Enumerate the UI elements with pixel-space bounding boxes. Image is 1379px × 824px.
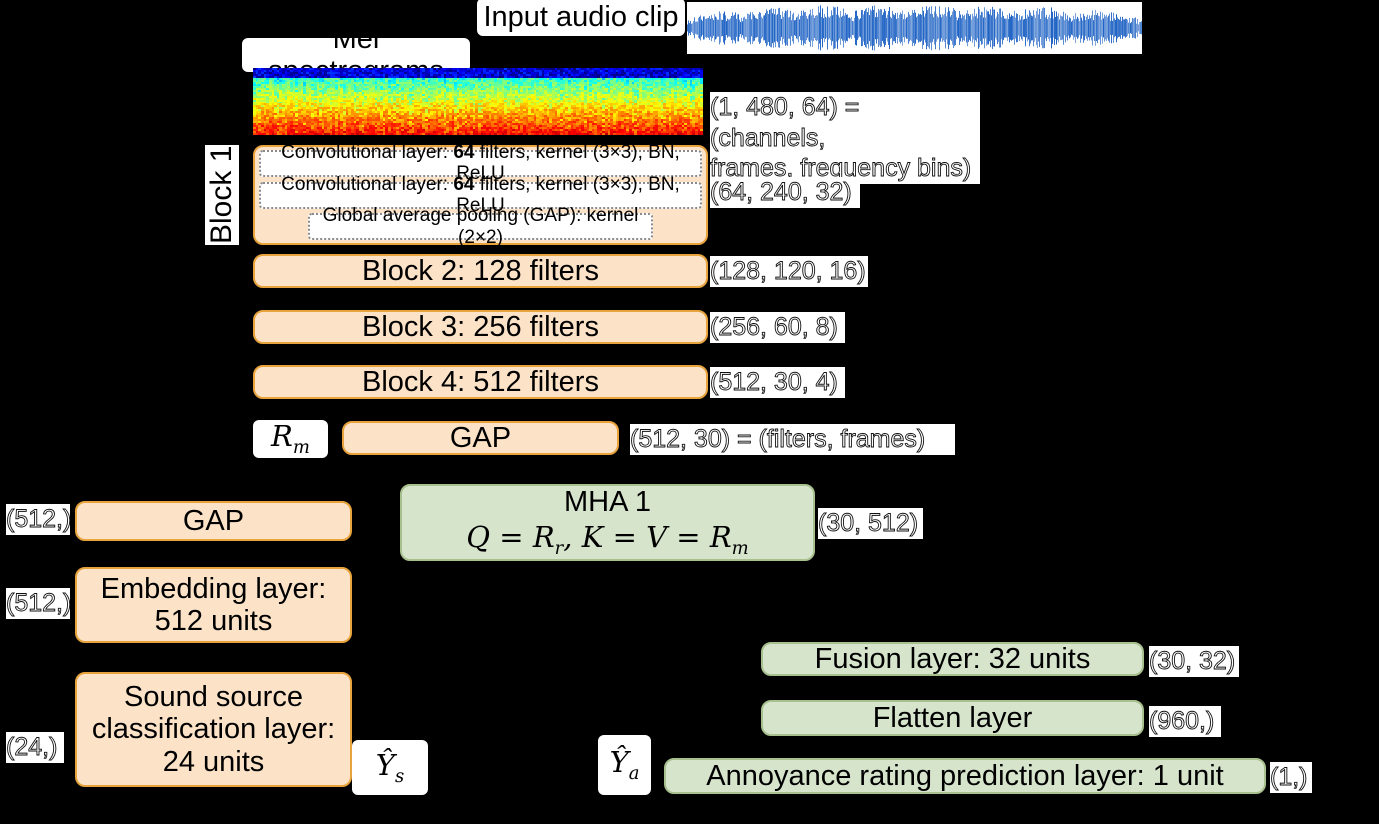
block-1-group-text: Block 1	[205, 146, 239, 244]
shape-block-4: (512, 30, 4)	[710, 367, 845, 398]
block-3[interactable]: Block 3: 256 filters	[253, 310, 708, 344]
embedding-layer-line-1: Embedding layer:	[101, 573, 327, 605]
tensor-rm-text: Rm	[271, 420, 310, 458]
embedding-layer[interactable]: Embedding layer: 512 units	[75, 567, 352, 643]
diagram-canvas: Input audio clip Mel spectrograms (1, 48…	[0, 0, 1379, 824]
shape-block-3: (256, 60, 8)	[710, 312, 845, 343]
classification-line-3: 24 units	[163, 746, 265, 778]
output-ya-text: Ŷa	[610, 746, 640, 784]
input-audio-clip-label: Input audio clip	[477, 0, 685, 36]
block-1-gap[interactable]: Global average pooling (GAP): kernel (2×…	[308, 213, 653, 240]
mel-spectrograms-label: Mel spectrograms	[242, 38, 470, 72]
output-ys-text: Ŷys	[376, 749, 404, 787]
block-1-container[interactable]: Convolutional layer: 64 filters, kernel …	[253, 145, 708, 245]
output-ya-label: Ŷa	[598, 735, 651, 795]
gap-ref-branch[interactable]: GAP	[75, 501, 352, 541]
input-audio-clip-text: Input audio clip	[483, 1, 678, 33]
gap-ref-branch-label: GAP	[183, 505, 244, 537]
block-1-group-label: Block 1	[205, 145, 239, 245]
shape-mha: (30, 512)	[818, 508, 923, 539]
audio-waveform	[687, 2, 1142, 54]
annoyance-rating-prediction-layer[interactable]: Annoyance rating prediction layer: 1 uni…	[664, 758, 1266, 794]
mha-block[interactable]: MHA 1 Q = Rr, K = V = Rm	[400, 484, 815, 561]
block-1-conv-2[interactable]: Convolutional layer: 64 filters, kernel …	[259, 182, 702, 209]
shape-annoyance: (1,)	[1270, 762, 1312, 793]
fusion-layer[interactable]: Fusion layer: 32 units	[761, 642, 1144, 676]
classification-line-2: classification layer:	[92, 713, 335, 745]
mel-spectrogram-image	[253, 68, 703, 135]
mha-formula: Q = Rr, K = V = Rm	[466, 521, 748, 559]
shape-flatten: (960,)	[1149, 706, 1221, 737]
shape-block-2: (128, 120, 16)	[710, 256, 868, 287]
block-1-conv-1[interactable]: Convolutional layer: 64 filters, kernel …	[259, 150, 702, 177]
flatten-layer[interactable]: Flatten layer	[761, 700, 1144, 736]
shape-gap-ref-branch: (512,)	[6, 504, 70, 535]
sound-source-classification-layer[interactable]: Sound source classification layer: 24 un…	[75, 672, 352, 787]
block-2-label: Block 2: 128 filters	[362, 255, 599, 287]
shape-gap-mel-branch: (512, 30) = (filters, frames)	[630, 424, 955, 455]
flatten-layer-label: Flatten layer	[873, 702, 1033, 734]
shape-block-1: (64, 240, 32)	[710, 177, 860, 208]
block-4[interactable]: Block 4: 512 filters	[253, 365, 708, 399]
block-4-label: Block 4: 512 filters	[362, 366, 599, 398]
fusion-layer-label: Fusion layer: 32 units	[815, 643, 1091, 675]
tensor-rm-label: Rm	[253, 420, 328, 458]
block-2[interactable]: Block 2: 128 filters	[253, 254, 708, 288]
embedding-layer-line-2: 512 units	[155, 605, 273, 637]
shape-fusion: (30, 32)	[1149, 646, 1239, 677]
gap-mel-branch[interactable]: GAP	[342, 421, 619, 455]
mha-title: MHA 1	[564, 486, 651, 518]
annoyance-layer-label: Annoyance rating prediction layer: 1 uni…	[706, 760, 1223, 792]
block-1-gap-text: Global average pooling (GAP): kernel (2×…	[310, 205, 651, 248]
gap-mel-branch-label: GAP	[450, 422, 511, 454]
block-3-label: Block 3: 256 filters	[362, 311, 599, 343]
classification-line-1: Sound source	[124, 681, 303, 713]
shape-classification: (24,)	[6, 732, 64, 763]
output-ys-label: Ŷys	[352, 740, 428, 795]
shape-input-spectrogram: (1, 480, 64) = (channels, frames, freque…	[710, 92, 980, 184]
shape-embedding: (512,)	[6, 588, 70, 619]
